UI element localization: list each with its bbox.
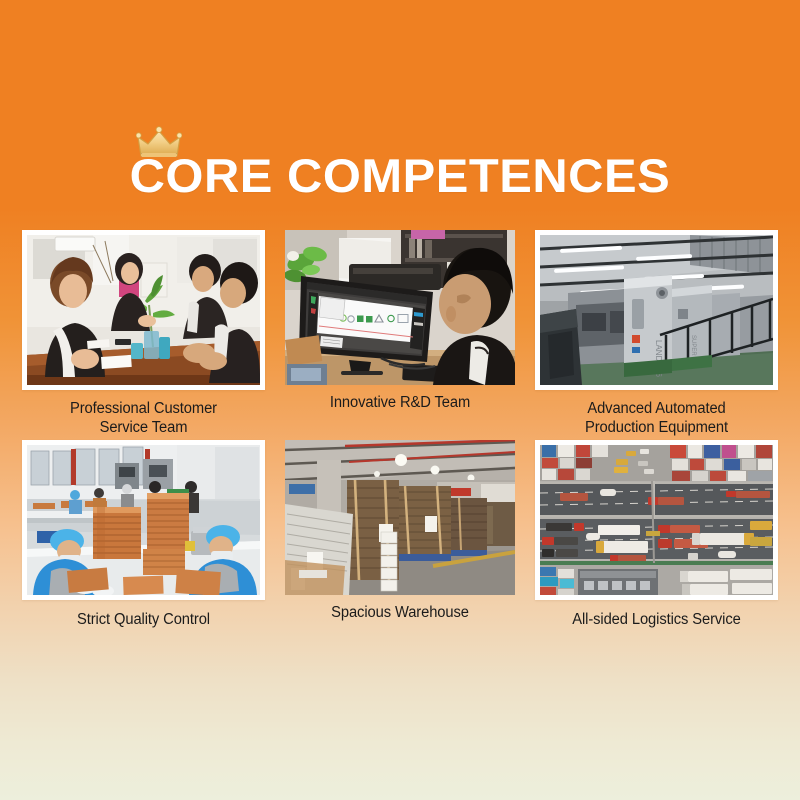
caption-line-1: Strict Quality Control	[28, 610, 259, 629]
card-innovative-rd-team[interactable]: Innovative R&D Team	[285, 230, 515, 438]
caption-line-1: Professional Customer	[28, 399, 259, 418]
photo-frame	[285, 440, 515, 595]
caption-line-1: Advanced Automated	[541, 399, 772, 418]
caption-line-2: Service Team	[28, 418, 259, 437]
photo-frame	[22, 440, 265, 600]
photo-automated-production-line: LAND 806 SUPER	[540, 235, 773, 385]
competence-row-1: Professional Customer Service Team	[22, 230, 778, 438]
svg-text:SUPER: SUPER	[690, 335, 696, 356]
card-caption: Strict Quality Control	[28, 610, 259, 629]
photo-frame	[22, 230, 265, 390]
competence-row-2: Strict Quality Control	[22, 440, 778, 629]
title-block: CORE COMPETENCES	[0, 152, 800, 199]
photo-quality-control-workers	[27, 445, 260, 595]
photo-frame: LAND 806 SUPER	[535, 230, 778, 390]
caption-line-1: All-sided Logistics Service	[541, 610, 772, 629]
card-advanced-automated-production-equipment[interactable]: LAND 806 SUPER	[535, 230, 778, 438]
card-professional-customer-service-team[interactable]: Professional Customer Service Team	[22, 230, 265, 438]
core-competences-banner: CORE COMPETENCES	[0, 0, 800, 800]
card-all-sided-logistics-service[interactable]: All-sided Logistics Service	[535, 440, 778, 629]
photo-frame	[285, 230, 515, 385]
card-caption: Innovative R&D Team	[291, 393, 510, 412]
card-spacious-warehouse[interactable]: Spacious Warehouse	[285, 440, 515, 629]
photo-rd-designer-at-computer	[285, 230, 515, 385]
photo-customer-service-meeting	[27, 235, 260, 385]
card-strict-quality-control[interactable]: Strict Quality Control	[22, 440, 265, 629]
photo-spacious-warehouse	[285, 440, 515, 595]
caption-line-1: Spacious Warehouse	[291, 603, 510, 622]
page-title: CORE COMPETENCES	[130, 152, 671, 199]
caption-line-1: Innovative R&D Team	[291, 393, 510, 412]
photo-logistics-container-yard-aerial	[540, 445, 773, 595]
competence-grid: Professional Customer Service Team	[22, 230, 778, 629]
photo-frame	[535, 440, 778, 600]
caption-line-2: Production Equipment	[541, 418, 772, 437]
card-caption: Spacious Warehouse	[291, 603, 510, 622]
card-caption: Advanced Automated Production Equipment	[541, 399, 772, 438]
card-caption: Professional Customer Service Team	[28, 399, 259, 438]
card-caption: All-sided Logistics Service	[541, 610, 772, 629]
